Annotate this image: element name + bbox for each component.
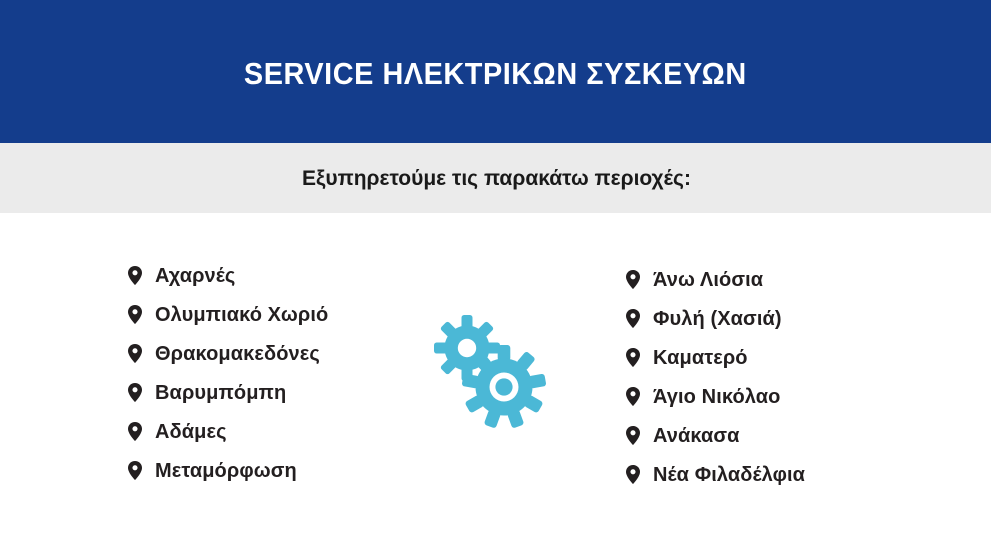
list-item: Άνω Λιόσια [626,260,805,299]
subtitle-band: Εξυπηρετούμε τις παρακάτω περιοχές: [0,143,991,213]
list-item: Φυλή (Χασιά) [626,299,805,338]
list-item: Ολυμπιακό Χωριό [128,295,328,334]
area-label: Άγιο Νικόλαο [653,387,780,407]
list-item: Καματερό [626,338,805,377]
list-item: Νέα Φιλαδέλφια [626,455,805,494]
area-label: Ολυμπιακό Χωριό [155,305,328,325]
list-item: Αδάμες [128,412,328,451]
area-label: Καματερό [653,348,748,368]
area-label: Αδάμες [155,422,227,442]
list-item: Αχαρνές [128,256,328,295]
map-pin-icon [626,348,640,367]
list-item: Θρακομακεδόνες [128,334,328,373]
area-label: Μεταμόρφωση [155,461,297,481]
page-title: SERVICE ΗΛΕΚΤΡΙΚΩΝ ΣΥΣΚΕΥΩΝ [244,58,747,89]
areas-section: Αχαρνές Ολυμπιακό Χωριό [0,213,991,549]
map-pin-icon [626,309,640,328]
map-pin-icon [128,266,142,285]
header-band: SERVICE ΗΛΕΚΤΡΙΚΩΝ ΣΥΣΚΕΥΩΝ [0,0,991,143]
areas-list-left: Αχαρνές Ολυμπιακό Χωριό [128,256,328,490]
list-item: Μεταμόρφωση [128,451,328,490]
subtitle-text: Εξυπηρετούμε τις παρακάτω περιοχές: [302,168,691,189]
list-item: Άγιο Νικόλαο [626,377,805,416]
map-pin-icon [128,383,142,402]
area-label: Νέα Φιλαδέλφια [653,465,805,485]
map-pin-icon [626,465,640,484]
list-item: Ανάκασα [626,416,805,455]
area-label: Θρακομακεδόνες [155,344,320,364]
map-pin-icon [128,422,142,441]
map-pin-icon [626,387,640,406]
area-label: Άνω Λιόσια [653,270,763,290]
area-label: Φυλή (Χασιά) [653,309,782,329]
area-label: Βαρυμπόμπη [155,383,286,403]
service-areas-banner: SERVICE ΗΛΕΚΤΡΙΚΩΝ ΣΥΣΚΕΥΩΝ Εξυπηρετούμε… [0,0,991,549]
map-pin-icon [626,270,640,289]
areas-list-right: Άνω Λιόσια Φυλή (Χασιά) [626,260,805,494]
map-pin-icon [128,305,142,324]
list-item: Βαρυμπόμπη [128,373,328,412]
map-pin-icon [128,461,142,480]
map-pin-icon [626,426,640,445]
gears-icon [432,311,557,436]
area-label: Αχαρνές [155,266,235,286]
area-label: Ανάκασα [653,426,740,446]
map-pin-icon [128,344,142,363]
